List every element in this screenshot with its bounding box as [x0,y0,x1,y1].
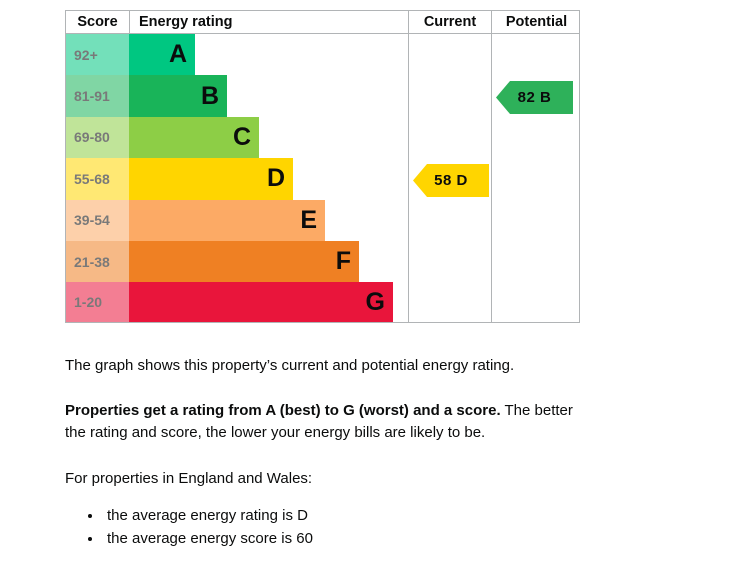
table-row: 92+ A [66,34,579,75]
rating-bar-c: C [129,117,259,158]
rating-explainer-text: Properties get a rating from A (best) to… [65,400,590,444]
score-range-a: 92+ [66,34,129,75]
current-rating-marker: 58 D [413,164,489,197]
score-range-e: 39-54 [66,200,129,241]
table-header-row: Score Energy rating Current Potential [66,11,579,34]
rating-bar-d: D [129,158,293,199]
rating-bar-e: E [129,200,325,241]
table-row: 21-38 F [66,241,579,282]
region-averages-list: the average energy rating is D the avera… [65,505,313,550]
score-range-d: 55-68 [66,158,129,199]
score-range-g: 1-20 [66,282,129,322]
potential-rating-marker: 82 B [496,81,573,114]
graph-description-text: The graph shows this property’s current … [65,355,625,377]
table-row: 69-80 C [66,117,579,158]
score-range-f: 21-38 [66,241,129,282]
band-letter-c: C [233,125,251,150]
band-letter-a: A [169,42,187,67]
band-letter-f: F [336,249,351,274]
epc-rating-chart: Score Energy rating Current Potential 92… [65,10,580,323]
list-item: the average energy score is 60 [103,528,313,551]
list-item: the average energy rating is D [103,505,313,528]
band-letter-b: B [201,84,219,109]
column-header-score: Score [66,11,129,33]
rating-bar-g: G [129,282,393,322]
score-range-b: 81-91 [66,75,129,116]
table-row: 55-68 D [66,158,579,199]
score-range-c: 69-80 [66,117,129,158]
column-header-current: Current [408,11,491,33]
table-row: 1-20 G [66,282,579,322]
table-row: 39-54 E [66,200,579,241]
rating-bar-a: A [129,34,195,75]
column-header-potential: Potential [491,11,581,33]
rating-bar-b: B [129,75,227,116]
column-header-energy-rating: Energy rating [129,11,408,33]
band-letter-g: G [366,290,385,315]
rating-bar-f: F [129,241,359,282]
band-letter-d: D [267,166,285,191]
band-letter-e: E [300,208,317,233]
rating-explainer-bold: Properties get a rating from A (best) to… [65,402,501,419]
region-intro-text: For properties in England and Wales: [65,468,625,490]
